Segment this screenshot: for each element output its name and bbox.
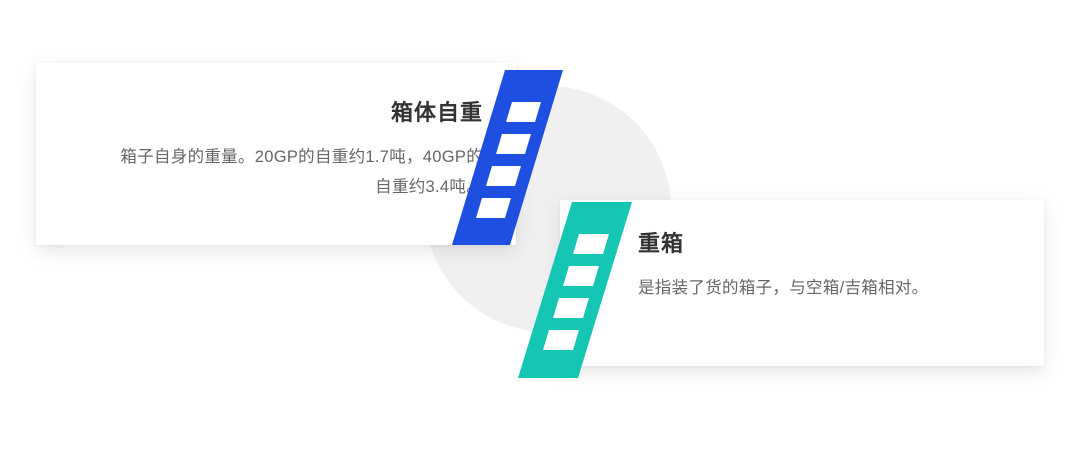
slanted-ribbon-icon-teal: [505, 192, 645, 392]
card-text-block: 重箱 是指装了货的箱子，与空箱/吉箱相对。: [638, 230, 1028, 303]
card-description: 是指装了货的箱子，与空箱/吉箱相对。: [638, 273, 1028, 304]
card-title: 重箱: [638, 230, 1028, 259]
card-description: 箱子自身的重量。20GP的自重约1.7吨，40GP的自重约3.4吨。: [113, 142, 483, 203]
card-text-block: 箱体自重 箱子自身的重量。20GP的自重约1.7吨，40GP的自重约3.4吨。: [113, 99, 483, 203]
infographic-canvas: 箱体自重 箱子自身的重量。20GP的自重约1.7吨，40GP的自重约3.4吨。 …: [0, 0, 1080, 456]
card-title: 箱体自重: [113, 99, 483, 128]
